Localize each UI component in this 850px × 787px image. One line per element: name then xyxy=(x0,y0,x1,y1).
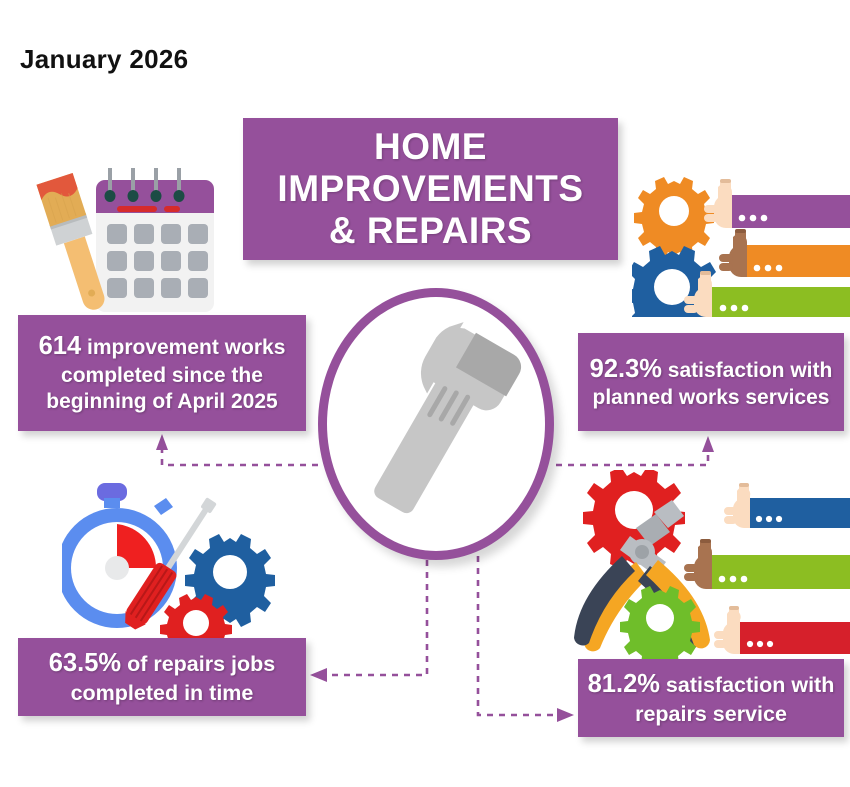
stat-value-repairs-jobs-in-time: 63.5% xyxy=(49,649,121,677)
stat-box-improvement-works: 614 improvement works completed since th… xyxy=(18,315,306,431)
stat-value-planned-works-satisfaction: 92.3% xyxy=(590,355,662,383)
connector-repairs-sat xyxy=(478,556,558,715)
arrowhead-planned-up xyxy=(702,436,714,452)
connector-planned xyxy=(556,450,708,465)
stopwatch-screwdriver-gears-icon xyxy=(62,480,280,650)
stat-label-improvement-works: improvement works completed since the be… xyxy=(46,336,285,413)
stat-text-planned-works-satisfaction: 92.3% satisfaction with planned works se… xyxy=(578,353,844,412)
stat-box-planned-works-satisfaction: 92.3% satisfaction with planned works se… xyxy=(578,333,844,431)
arrowhead-improvements-up xyxy=(156,434,168,450)
stat-text-improvement-works: 614 improvement works completed since th… xyxy=(18,330,306,415)
stat-value-improvement-works: 614 xyxy=(39,332,82,360)
stat-box-repairs-service-satisfaction: 81.2% satisfaction with repairs service xyxy=(578,659,844,737)
connector-improvements xyxy=(162,448,318,465)
arrowhead-repairs-sat-right xyxy=(557,708,574,722)
stat-box-repairs-jobs-in-time: 63.5% of repairs jobs completed in time xyxy=(18,638,306,716)
stat-text-repairs-service-satisfaction: 81.2% satisfaction with repairs service xyxy=(578,668,844,727)
infographic-root: January 2026 HOME IMPROVEMENTS & REPAIRS xyxy=(0,0,850,787)
center-circle xyxy=(318,288,554,560)
stopwatch-icon xyxy=(62,483,177,628)
wrench-icon xyxy=(327,297,545,551)
stat-text-repairs-jobs-in-time: 63.5% of repairs jobs completed in time xyxy=(18,647,306,706)
stat-label-repairs-service-satisfaction: satisfaction with repairs service xyxy=(635,673,834,725)
stat-value-repairs-service-satisfaction: 81.2% xyxy=(588,670,660,698)
connector-repairs-time xyxy=(326,560,427,675)
calendar-paintbrush-icon xyxy=(14,162,229,320)
arrowhead-repairs-time-left xyxy=(310,668,327,682)
